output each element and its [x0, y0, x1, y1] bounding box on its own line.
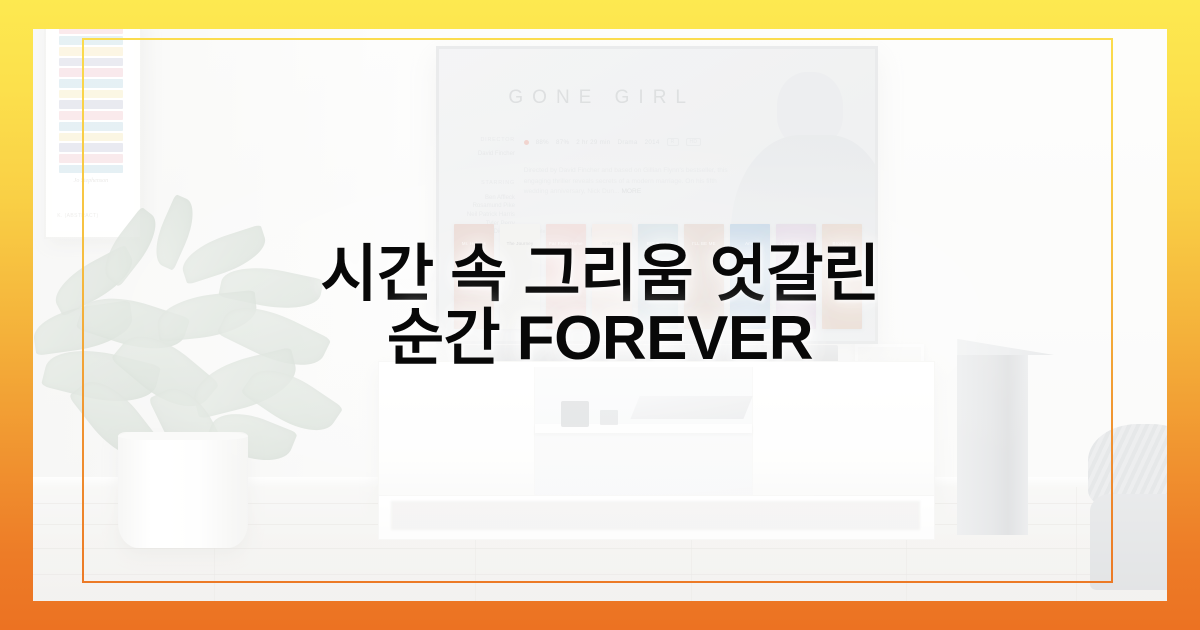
artwork-signature: Jo Stephenson [74, 178, 109, 184]
console-under-shadow [391, 501, 919, 530]
tomato-icon [524, 140, 529, 145]
wall-art-left-frame: Jo Stephenson K. (ABSTRACT) [44, 29, 142, 239]
movie-badges: 88% 87% 2 hr 29 min Drama 2014 R HD [524, 138, 702, 146]
cert-badge: R [667, 138, 679, 146]
movie-synopsis: Directed by David Fincher and based on G… [524, 166, 742, 198]
art-stripes [59, 29, 123, 173]
critic-score: 88% [536, 139, 549, 146]
social-share-banner: Jo Stephenson K. (ABSTRACT) [0, 0, 1200, 630]
headline-line-1: 시간 속 그리움 엇갈린 [320, 240, 879, 309]
audience-score: 87% [556, 139, 569, 146]
director-name: David Fincher [454, 150, 515, 159]
art-mat: Jo Stephenson K. (ABSTRACT) [52, 29, 134, 231]
knitted-pouf [1088, 424, 1167, 584]
runtime: 2 hr 29 min [576, 139, 610, 146]
starring-label: STARRING [454, 180, 515, 186]
console-bay [534, 367, 753, 496]
genre: Drama [618, 139, 638, 146]
remote-control [561, 401, 589, 427]
synopsis-more-link[interactable]: MORE [621, 188, 641, 195]
media-console [378, 361, 936, 503]
movie-title: GONE GIRL [508, 87, 695, 109]
console-device [630, 396, 752, 419]
quality-badge: HD [686, 138, 702, 146]
headline-line-2: 순간 FOREVER [90, 307, 1110, 371]
year: 2014 [645, 139, 660, 146]
director-label: DIRECTOR [454, 137, 515, 143]
media-box [600, 410, 617, 425]
page-title: 시간 속 그리움 엇갈린 순간 FOREVER [0, 243, 1200, 372]
plant-pot [118, 432, 248, 547]
tower-speaker [957, 355, 1027, 535]
